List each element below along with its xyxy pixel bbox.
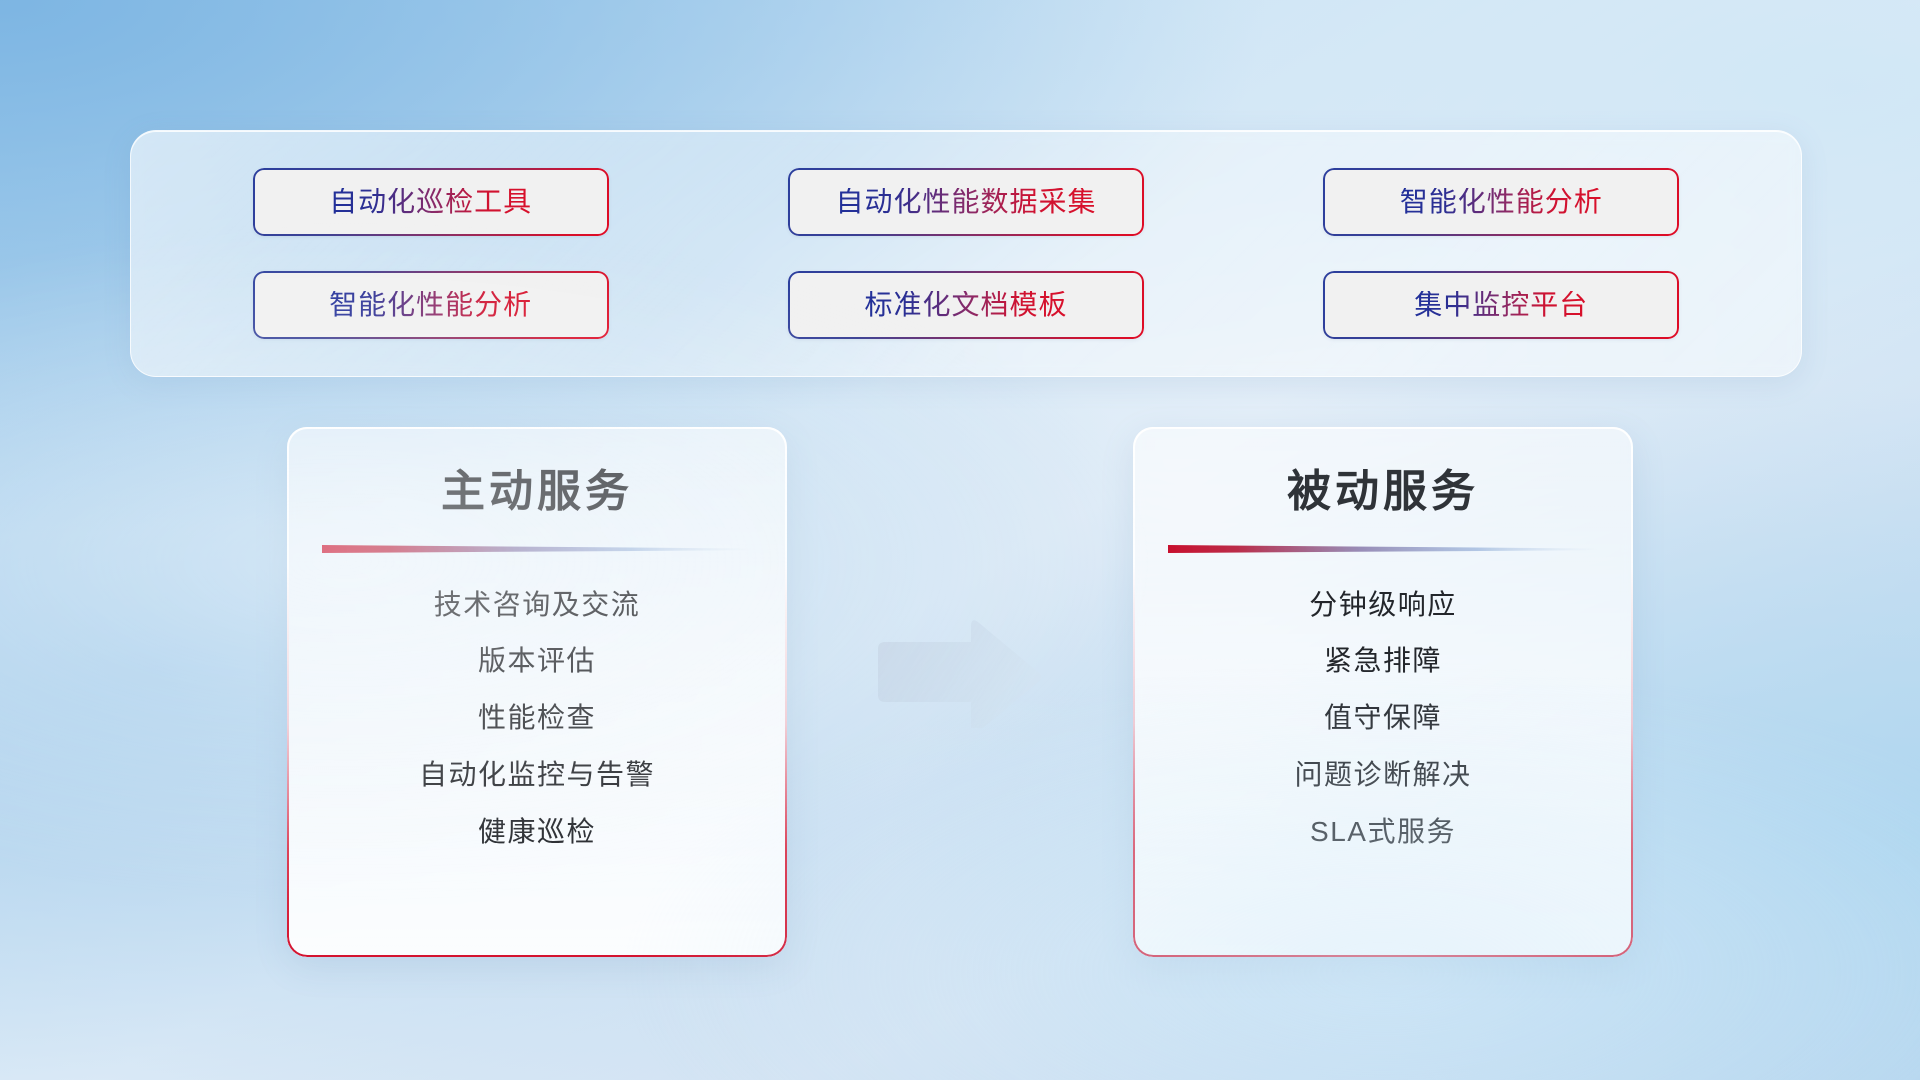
service-item: 技术咨询及交流 [434, 590, 641, 621]
capability-panel: 自动化巡检工具 自动化性能数据采集 智能化性能分析 智能化性能分析 标准化文档模… [130, 130, 1802, 377]
arrow-right-icon [872, 616, 1044, 728]
capability-tag-1[interactable]: 自动化巡检工具 [253, 168, 609, 236]
card-title: 主动服务 [441, 467, 633, 518]
service-item: 紧急排障 [1324, 646, 1442, 677]
service-item-list: 技术咨询及交流 版本评估 性能检查 自动化监控与告警 健康巡检 [317, 590, 757, 848]
service-item: 性能检查 [478, 703, 596, 734]
capability-tag-2[interactable]: 自动化性能数据采集 [788, 168, 1144, 236]
service-item: 版本评估 [478, 646, 596, 677]
service-item: 问题诊断解决 [1294, 760, 1471, 791]
capability-tag-3[interactable]: 智能化性能分析 [1323, 168, 1679, 236]
capability-tag-5[interactable]: 标准化文档模板 [788, 271, 1144, 339]
service-item: 分钟级响应 [1309, 590, 1457, 621]
service-card-proactive: 主动服务 技术咨询及交流 版本评估 性能检查 自动化监控与告警 [287, 427, 787, 957]
capability-tag-label: 集中监控平台 [1414, 291, 1588, 319]
capability-tag-label: 智能化性能分析 [1400, 188, 1603, 216]
capability-tag-6[interactable]: 集中监控平台 [1323, 271, 1679, 339]
card-title: 被动服务 [1287, 467, 1479, 518]
service-card-reactive: 被动服务 分钟级响应 紧急排障 值守保障 问题诊断解决 [1133, 427, 1633, 957]
title-divider [322, 542, 752, 556]
capability-tag-label: 标准化文档模板 [864, 291, 1067, 319]
slide-canvas: 自动化巡检工具 自动化性能数据采集 智能化性能分析 智能化性能分析 标准化文档模… [0, 0, 1920, 1080]
service-item: SLA式服务 [1310, 817, 1456, 848]
capability-tag-label: 智能化性能分析 [329, 291, 532, 319]
service-item-list: 分钟级响应 紧急排障 值守保障 问题诊断解决 SLA式服务 [1163, 590, 1603, 848]
service-item: 值守保障 [1324, 703, 1442, 734]
capability-tag-4[interactable]: 智能化性能分析 [253, 271, 609, 339]
capability-tag-label: 自动化巡检工具 [329, 188, 532, 216]
service-item: 健康巡检 [478, 817, 596, 848]
title-divider [1168, 542, 1598, 556]
service-item: 自动化监控与告警 [419, 760, 655, 791]
capability-tag-label: 自动化性能数据采集 [835, 188, 1096, 216]
